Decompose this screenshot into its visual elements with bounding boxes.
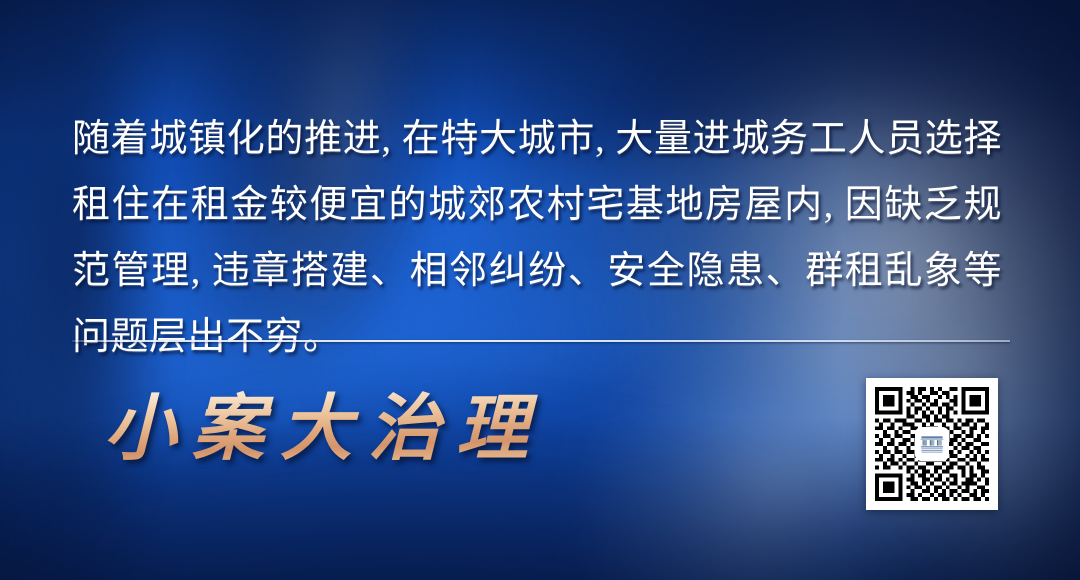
poster-root: 随着城镇化的推进, 在特大城市, 大量进城务工人员选择租住在租金较便宜的城郊农村… [0,0,1080,580]
courthouse-building-icon [920,432,945,457]
horizontal-divider [72,340,1010,342]
page-title: 小案大治理 [104,386,544,472]
qr-code[interactable] [866,378,998,510]
poster-content: 随着城镇化的推进, 在特大城市, 大量进城务工人员选择租住在租金较便宜的城郊农村… [0,0,1080,580]
body-paragraph: 随着城镇化的推进, 在特大城市, 大量进城务工人员选择租住在租金较便宜的城郊农村… [72,106,1002,370]
qr-center-logo [917,429,948,460]
